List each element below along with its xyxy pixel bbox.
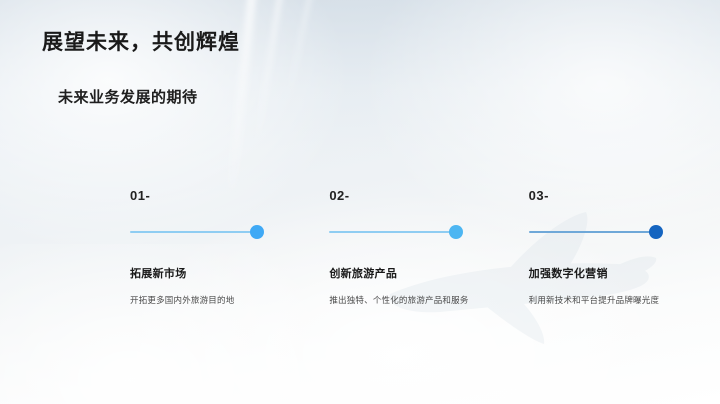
column-body: 推出独特、个性化的旅游产品和服务 bbox=[329, 293, 470, 308]
column-dot-icon bbox=[250, 225, 264, 239]
column-dot-icon bbox=[449, 225, 463, 239]
slide: 展望未来，共创辉煌 未来业务发展的期待 01- 拓展新市场 开拓更多国内外旅游目… bbox=[0, 0, 720, 404]
page-subtitle: 未来业务发展的期待 bbox=[58, 86, 198, 107]
column-01: 01- 拓展新市场 开拓更多国内外旅游目的地 bbox=[130, 188, 271, 308]
column-number: 02- bbox=[329, 188, 470, 203]
column-rule bbox=[130, 231, 256, 233]
column-02: 02- 创新旅游产品 推出独特、个性化的旅游产品和服务 bbox=[329, 188, 470, 308]
column-dot-icon bbox=[649, 225, 663, 239]
column-rule bbox=[329, 231, 455, 233]
column-body: 利用新技术和平台提升品牌曝光度 bbox=[529, 293, 670, 308]
column-number: 01- bbox=[130, 188, 271, 203]
column-heading: 创新旅游产品 bbox=[329, 265, 470, 281]
column-03: 03- 加强数字化营销 利用新技术和平台提升品牌曝光度 bbox=[529, 188, 670, 308]
page-title: 展望未来，共创辉煌 bbox=[42, 26, 240, 56]
column-heading: 拓展新市场 bbox=[130, 265, 271, 281]
column-body: 开拓更多国内外旅游目的地 bbox=[130, 293, 271, 308]
column-number: 03- bbox=[529, 188, 670, 203]
contrail-streak bbox=[255, 0, 287, 139]
columns-container: 01- 拓展新市场 开拓更多国内外旅游目的地 02- 创新旅游产品 推出独特、个… bbox=[130, 188, 670, 308]
sky-haze bbox=[0, 0, 720, 150]
column-rule bbox=[529, 231, 655, 233]
column-heading: 加强数字化营销 bbox=[529, 265, 670, 281]
column-rule-wrap bbox=[329, 225, 470, 239]
column-rule-wrap bbox=[130, 225, 271, 239]
contrail-streak bbox=[288, 0, 316, 94]
column-rule-wrap bbox=[529, 225, 670, 239]
